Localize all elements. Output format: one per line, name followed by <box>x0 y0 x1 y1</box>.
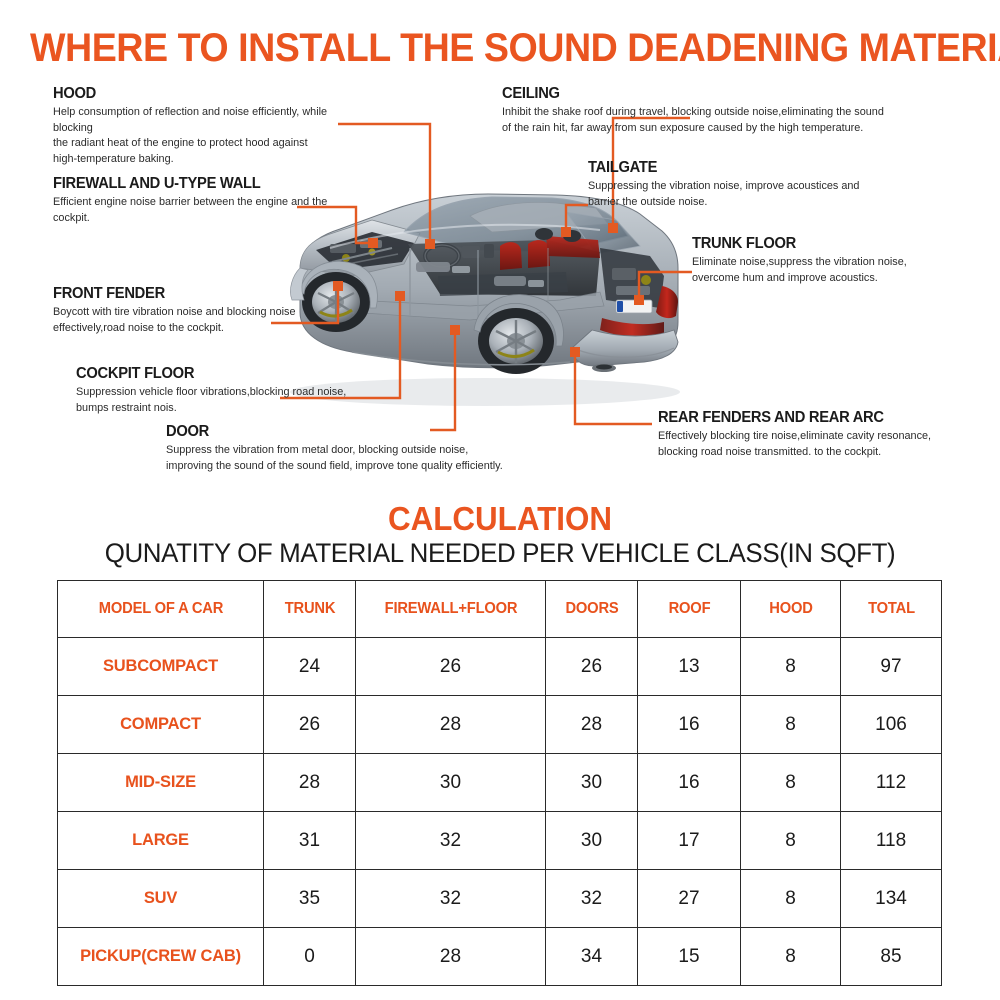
table-cell-model: LARGE <box>58 812 264 870</box>
callout-front-fender: FRONT FENDER Boycott with tire vibration… <box>53 286 333 336</box>
table-row: MID-SIZE 28 30 30 16 8 112 <box>58 754 942 812</box>
page-title: WHERE TO INSTALL THE SOUND DEADENING MAT… <box>30 26 970 71</box>
table-row: LARGE 31 32 30 17 8 118 <box>58 812 942 870</box>
table-header-row: MODEL OF A CAR TRUNK FIREWALL+FLOOR DOOR… <box>58 581 942 638</box>
table-cell-model: PICKUP(CREW CAB) <box>58 928 264 986</box>
table-cell: 28 <box>356 928 546 986</box>
marker-firewall <box>368 238 378 248</box>
table-cell: 0 <box>264 928 356 986</box>
table-header-cell: TRUNK <box>266 581 353 638</box>
table-header-cell: TOTAL <box>843 581 939 638</box>
quantity-table: MODEL OF A CAR TRUNK FIREWALL+FLOOR DOOR… <box>57 580 942 986</box>
table-cell: 26 <box>356 638 546 696</box>
callout-trunk-floor-title: TRUNK FLOOR <box>692 236 958 252</box>
rear-wheel <box>478 308 554 374</box>
table-cell: 30 <box>356 754 546 812</box>
table-cell: 28 <box>546 696 638 754</box>
marker-rear-fenders <box>570 347 580 357</box>
table-cell: 8 <box>741 754 841 812</box>
callout-cockpit-floor-title: COCKPIT FLOOR <box>76 366 352 382</box>
table-cell: 16 <box>638 696 741 754</box>
callout-hood-body: Help consumption of reflection and noise… <box>53 105 344 167</box>
table-header-cell: MODEL OF A CAR <box>63 581 259 638</box>
marker-hood <box>425 239 435 249</box>
callout-hood: HOOD Help consumption of reflection and … <box>53 86 353 167</box>
marker-door <box>450 325 460 335</box>
callout-firewall: FIREWALL AND U-TYPE WALL Efficient engin… <box>53 176 353 226</box>
table-cell-model: COMPACT <box>58 696 264 754</box>
marker-cockpit-floor <box>395 291 405 301</box>
callout-door-body: Suppress the vibration from metal door, … <box>166 443 535 474</box>
callout-cockpit-floor-body: Suppression vehicle floor vibrations,blo… <box>76 385 357 416</box>
table-cell-model: MID-SIZE <box>58 754 264 812</box>
leader-door <box>430 330 455 430</box>
table-cell: 106 <box>841 696 942 754</box>
table-cell: 8 <box>741 928 841 986</box>
callout-door: DOOR Suppress the vibration from metal d… <box>166 424 546 474</box>
table-cell: 30 <box>546 754 638 812</box>
table-cell: 32 <box>356 812 546 870</box>
table-cell: 35 <box>264 870 356 928</box>
marker-trunk-floor <box>634 295 644 305</box>
callout-tailgate: TAILGATE Suppressing the vibration noise… <box>588 160 918 210</box>
table-cell: 118 <box>841 812 942 870</box>
callout-trunk-floor: TRUNK FLOOR Eliminate noise,suppress the… <box>692 236 972 286</box>
leader-tailgate <box>566 205 588 232</box>
table-cell: 27 <box>638 870 741 928</box>
callout-front-fender-title: FRONT FENDER <box>53 286 319 302</box>
callout-rear-fenders-body: Effectively blocking tire noise,eliminat… <box>658 429 968 460</box>
callout-front-fender-body: Boycott with tire vibration noise and bl… <box>53 305 325 336</box>
table-cell: 8 <box>741 812 841 870</box>
table-row: SUV 35 32 32 27 8 134 <box>58 870 942 928</box>
table-header-cell: HOOD <box>743 581 838 638</box>
table-cell: 13 <box>638 638 741 696</box>
table-cell: 28 <box>264 754 356 812</box>
table-cell-model: SUBCOMPACT <box>58 638 264 696</box>
table-cell: 8 <box>741 870 841 928</box>
table-row: SUBCOMPACT 24 26 26 13 8 97 <box>58 638 942 696</box>
callout-ceiling: CEILING Inhibit the shake roof during tr… <box>502 86 942 136</box>
callout-rear-fenders: REAR FENDERS AND REAR ARC Effectively bl… <box>658 410 978 460</box>
callout-firewall-body: Efficient engine noise barrier between t… <box>53 195 344 226</box>
table-cell: 17 <box>638 812 741 870</box>
marker-front-fender <box>333 281 343 291</box>
table-cell: 8 <box>741 638 841 696</box>
callout-hood-title: HOOD <box>53 86 338 102</box>
callout-ceiling-title: CEILING <box>502 86 920 102</box>
table-cell: 97 <box>841 638 942 696</box>
table-cell: 8 <box>741 696 841 754</box>
marker-ceiling <box>608 223 618 233</box>
table-header-cell: DOORS <box>548 581 635 638</box>
table-cell-model: SUV <box>58 870 264 928</box>
calculation-title: CALCULATION <box>25 500 975 538</box>
callout-firewall-title: FIREWALL AND U-TYPE WALL <box>53 176 338 192</box>
leader-endpoint-markers <box>333 223 644 357</box>
callout-door-title: DOOR <box>166 424 527 440</box>
table-cell: 32 <box>546 870 638 928</box>
callout-tailgate-body: Suppressing the vibration noise, improve… <box>588 179 908 210</box>
callout-trunk-floor-body: Eliminate noise,suppress the vibration n… <box>692 255 964 286</box>
table-cell: 134 <box>841 870 942 928</box>
table-row: PICKUP(CREW CAB) 0 28 34 15 8 85 <box>58 928 942 986</box>
callout-cockpit-floor: COCKPIT FLOOR Suppression vehicle floor … <box>76 366 366 416</box>
table-header-cell: ROOF <box>640 581 738 638</box>
table-cell: 31 <box>264 812 356 870</box>
table-cell: 26 <box>264 696 356 754</box>
table-cell: 34 <box>546 928 638 986</box>
table-cell: 32 <box>356 870 546 928</box>
table-cell: 28 <box>356 696 546 754</box>
table-cell: 26 <box>546 638 638 696</box>
calculation-subtitle: QUNATITY OF MATERIAL NEEDED PER VEHICLE … <box>20 538 980 569</box>
marker-tailgate <box>561 227 571 237</box>
table-header-cell: FIREWALL+FLOOR <box>360 581 541 638</box>
callout-rear-fenders-title: REAR FENDERS AND REAR ARC <box>658 410 962 426</box>
callout-ceiling-body: Inhibit the shake roof during travel, bl… <box>502 105 929 136</box>
table-cell: 112 <box>841 754 942 812</box>
table-cell: 30 <box>546 812 638 870</box>
table-cell: 24 <box>264 638 356 696</box>
table-cell: 16 <box>638 754 741 812</box>
leader-trunk-floor <box>639 272 692 300</box>
table-row: COMPACT 26 28 28 16 8 106 <box>58 696 942 754</box>
callout-tailgate-title: TAILGATE <box>588 160 902 176</box>
leader-rear-fenders <box>575 352 652 424</box>
table-cell: 15 <box>638 928 741 986</box>
infographic-page: WHERE TO INSTALL THE SOUND DEADENING MAT… <box>0 0 1000 1000</box>
table-cell: 85 <box>841 928 942 986</box>
